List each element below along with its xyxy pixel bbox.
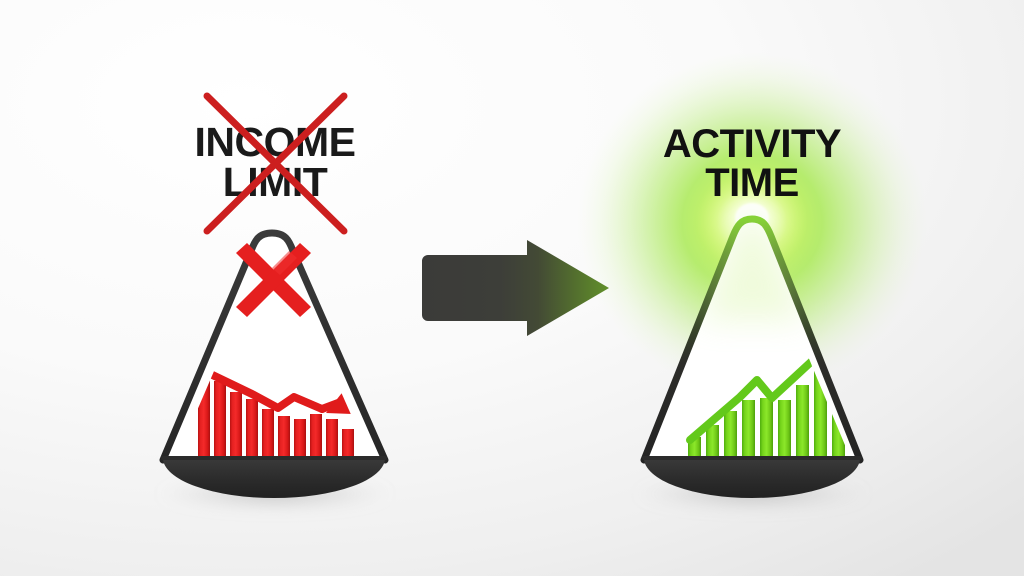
bar	[742, 400, 755, 458]
bar	[326, 419, 338, 458]
bar	[278, 416, 290, 458]
bar	[760, 398, 773, 458]
bar	[706, 425, 719, 458]
bar	[230, 392, 242, 458]
bar	[778, 400, 791, 458]
bar	[214, 381, 226, 458]
bar	[342, 429, 354, 458]
scene-canvas: INCOME LIMIT ACTIVITY TIME	[0, 0, 1024, 576]
bar	[796, 385, 809, 458]
bar	[310, 414, 322, 458]
activity-time-line1: ACTIVITY	[663, 122, 842, 166]
illustration-svg: INCOME LIMIT ACTIVITY TIME	[0, 0, 1024, 576]
bar	[262, 409, 274, 458]
bar	[246, 399, 258, 458]
activity-time-line2: TIME	[705, 161, 799, 205]
bar	[724, 411, 737, 458]
bar	[294, 419, 306, 458]
